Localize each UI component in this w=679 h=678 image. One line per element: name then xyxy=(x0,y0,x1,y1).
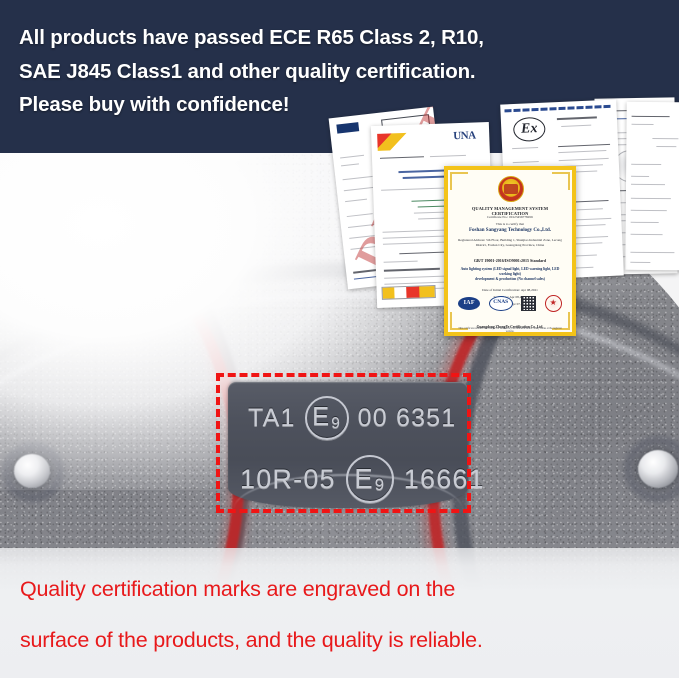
qms-company-name: Foshan Sangyang Technology Co.,Ltd. xyxy=(454,228,566,233)
caption-line-2: surface of the products, and the quality… xyxy=(20,615,668,666)
certificate-collage: DRAFT UNA xyxy=(330,96,679,326)
ornamental-corner-icon xyxy=(450,172,468,190)
qms-awarded-to-label: This is to certify that xyxy=(456,222,564,226)
qms-accreditation-marks: IAF CNAS ★ xyxy=(454,295,566,312)
qr-code-icon xyxy=(521,296,536,311)
header-line-2: SAE J845 Class1 and other quality certif… xyxy=(19,55,619,89)
certificate-document-annex xyxy=(625,102,679,270)
qms-scope: Auto lighting system (LED signal light, … xyxy=(456,267,564,282)
red-star-seal-icon: ★ xyxy=(545,295,562,312)
qms-standard: GB/T 19001-2016/ISO9001:2015 Standard xyxy=(454,258,566,263)
document-body-lines xyxy=(625,102,679,270)
header-line-1: All products have passed ECE R65 Class 2… xyxy=(19,21,619,55)
qms-scope-line-2: development & production (No channel sal… xyxy=(475,277,545,281)
bolt-head-right xyxy=(638,450,678,488)
caption-line-1: Quality certification marks are engraved… xyxy=(20,564,668,615)
qms-issuer-note: This certificate remains valid subject t… xyxy=(454,327,566,333)
qms-address: Registered Address: 5th Floor, Building … xyxy=(456,238,564,247)
qms-standard-intro xyxy=(456,253,564,257)
accreditation-strip-icon xyxy=(381,285,435,300)
cnas-logo-icon: CNAS xyxy=(489,296,513,311)
qms-date-initial: Date of Initial Certification: Apr 08,20… xyxy=(456,288,564,292)
ornamental-corner-icon xyxy=(552,172,570,190)
caption-text: Quality certification marks are engraved… xyxy=(20,564,668,666)
certificate-document-qms: QUALITY MANAGEMENT SYSTEM CERTIFICATION … xyxy=(444,166,576,336)
product-infographic: TA1 E9 00 6351 10R-05 E9 16661 All produ… xyxy=(0,0,679,678)
qms-certificate-no: Certificate No.: 00123456778456 xyxy=(456,215,564,219)
iaf-logo-icon: IAF xyxy=(458,297,480,310)
qms-certifier-logo-icon xyxy=(498,176,524,202)
qms-scope-line-1: Auto lighting system (LED signal light, … xyxy=(461,267,560,276)
caption-banner: Quality certification marks are engraved… xyxy=(0,548,679,678)
highlight-dashed-box xyxy=(216,373,471,513)
